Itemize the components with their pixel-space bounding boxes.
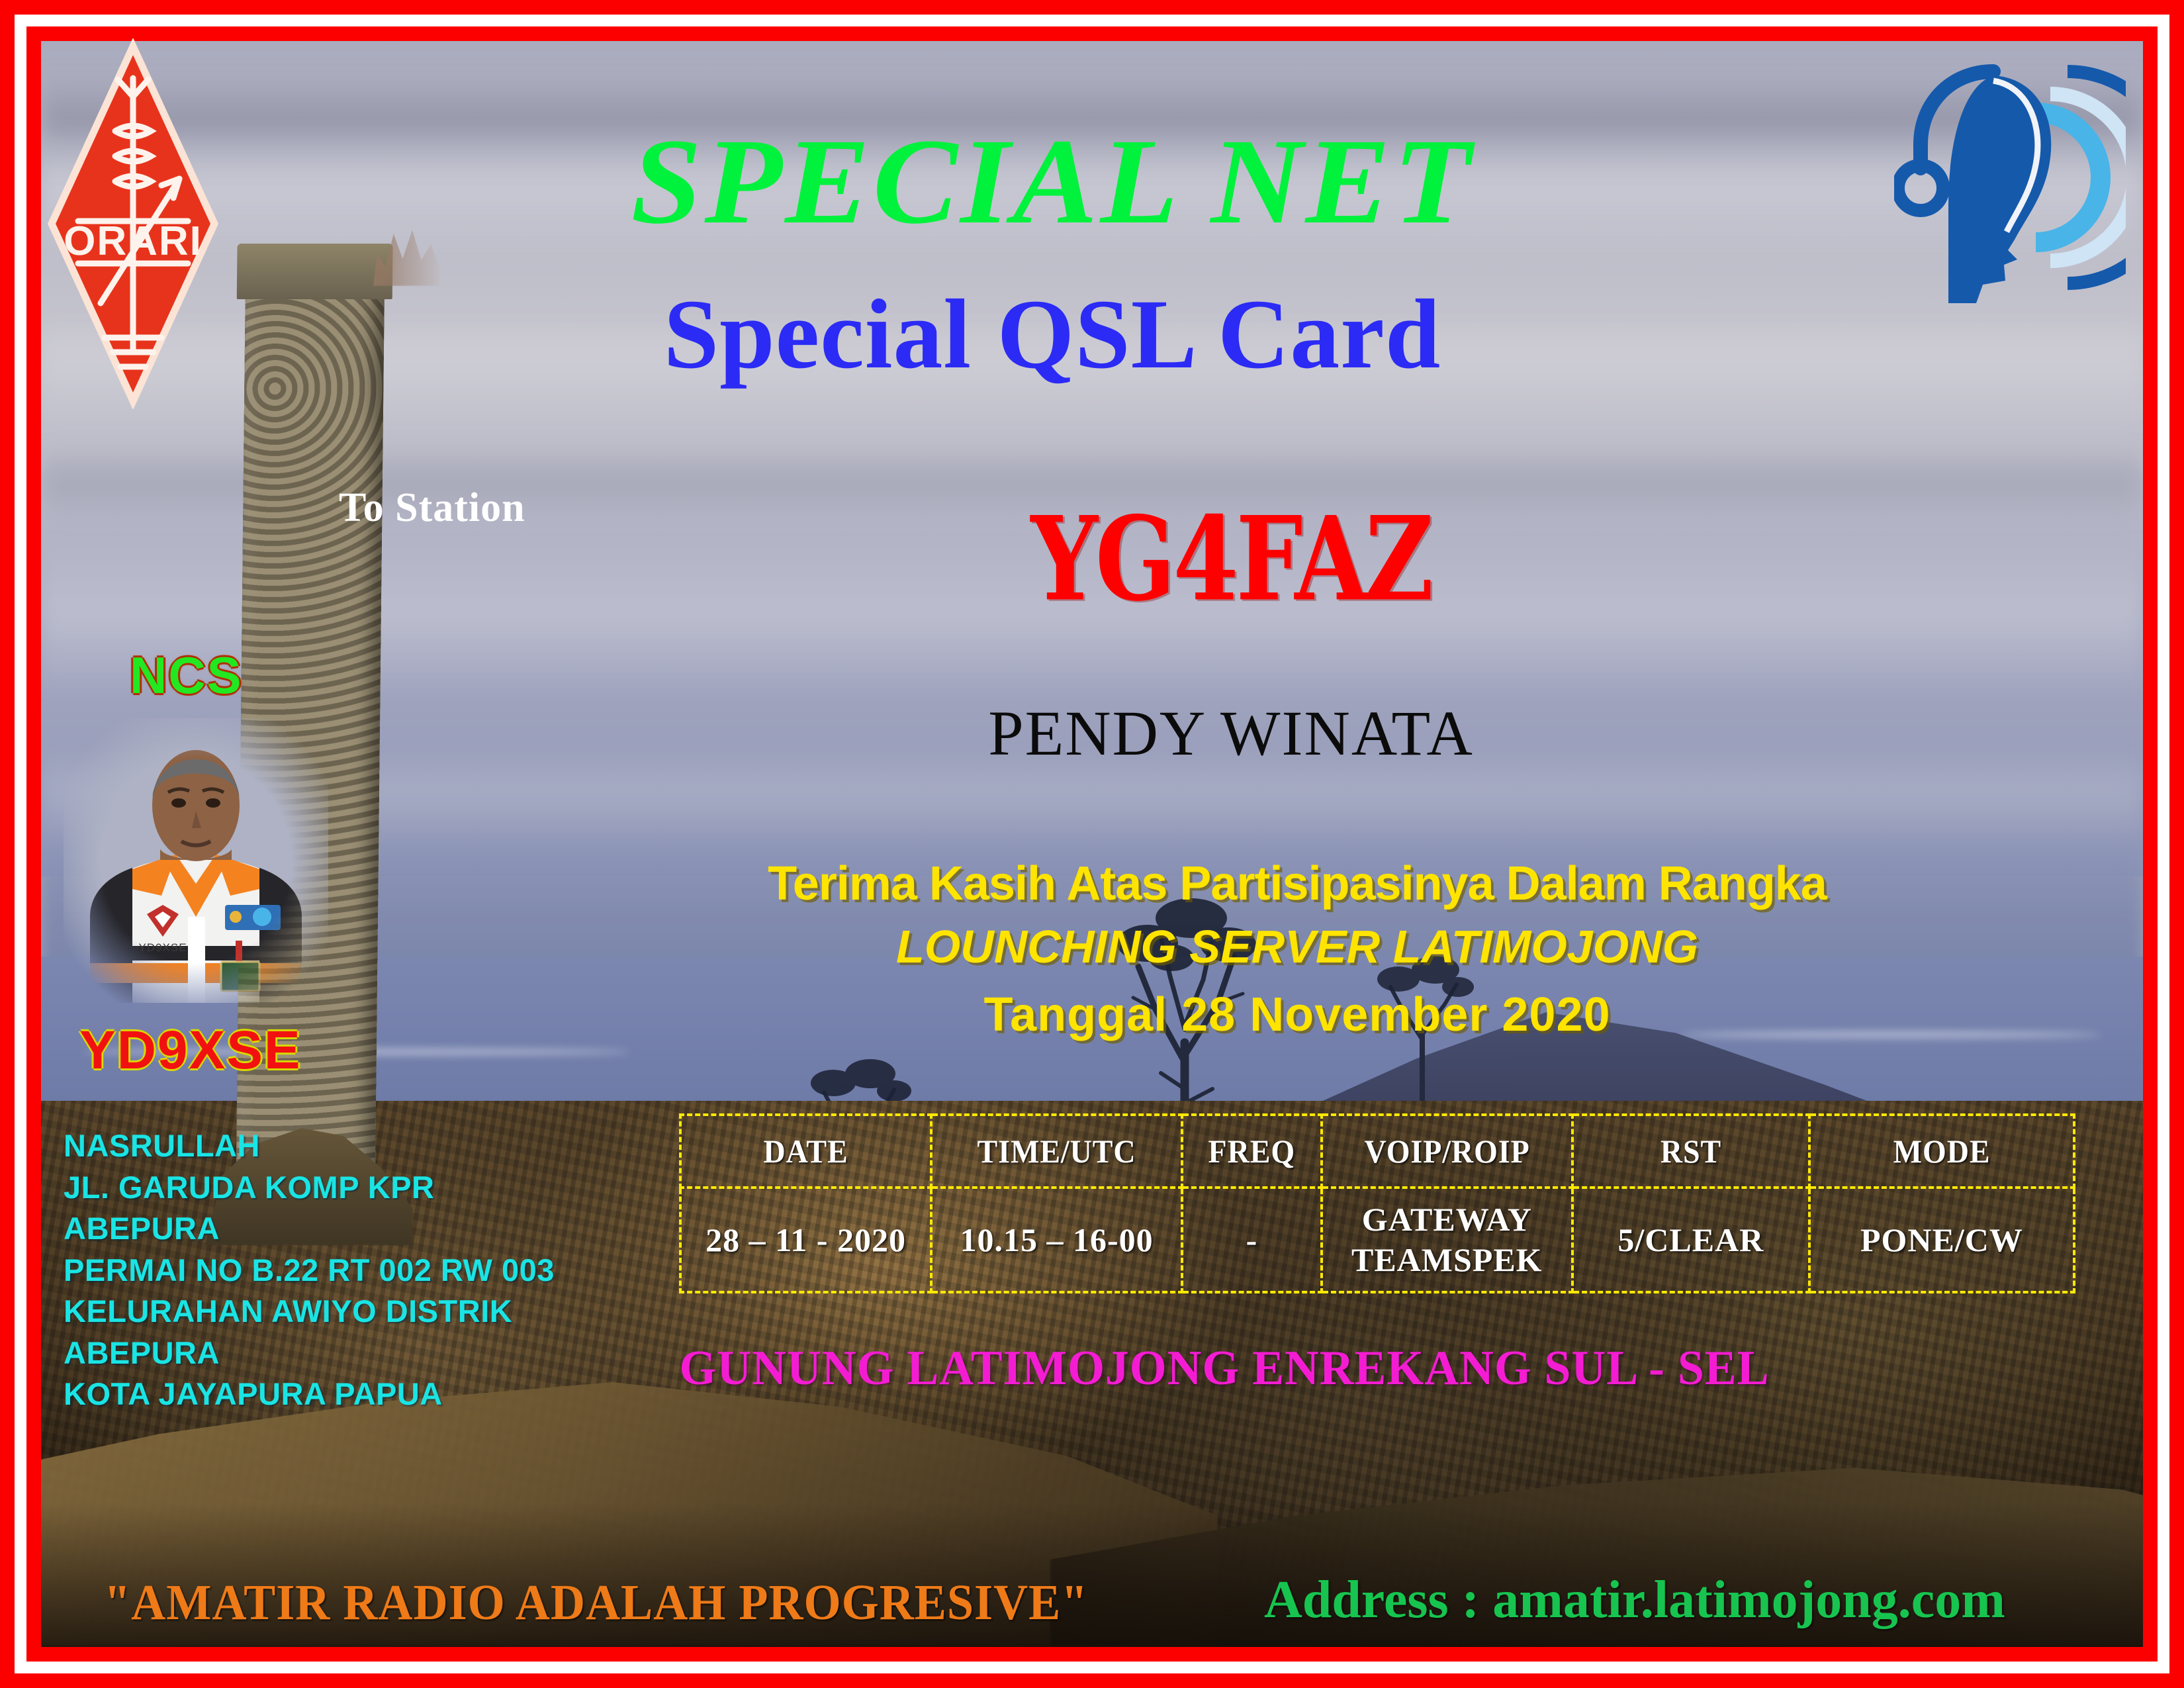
cell-rst: 5/CLEAR xyxy=(1572,1188,1809,1292)
table-header-date: DATE xyxy=(690,1115,921,1188)
address-line: NASRULLAH xyxy=(64,1125,619,1167)
table-header-time: TIME/UTC xyxy=(941,1115,1172,1188)
ncs-label: NCS xyxy=(130,645,243,706)
operator-name: PENDY WINATA xyxy=(834,702,1628,765)
address-line: JL. GARUDA KOMP KPR xyxy=(64,1167,619,1209)
location-caption: GUNUNG LATIMOJONG ENREKANG SUL - SEL xyxy=(615,1340,1835,1397)
cell-freq: - xyxy=(1182,1188,1322,1292)
cell-mode: PONE/CW xyxy=(1809,1188,2074,1292)
thanks-line-2: LOUNCHING SERVER LATIMOJONG xyxy=(708,914,1886,979)
card-outer-frame: ORARI SPECIAL NET Special QSL Card To St… xyxy=(0,0,2184,1688)
footer-web-address: Address : amatir.latimojong.com xyxy=(1264,1570,2005,1630)
page-subtitle: Special QSL Card xyxy=(424,285,1681,384)
table-header-mode: MODE xyxy=(1820,1115,2064,1188)
ncs-operator-photo: YD9XSE xyxy=(64,718,328,1003)
to-station-label: To Station xyxy=(339,485,525,532)
svg-text:YD9XSE: YD9XSE xyxy=(138,941,187,954)
address-line: ABEPURA xyxy=(64,1333,619,1374)
cell-voip-line1: GATEWAY xyxy=(1362,1201,1532,1238)
address-line: KOTA JAYAPURA PAPUA xyxy=(64,1374,619,1415)
cell-voip: GATEWAY TEAMSPEK xyxy=(1322,1188,1572,1292)
headset-operator-logo xyxy=(1894,52,2126,303)
orari-logo-text: ORARI xyxy=(64,218,203,264)
table-row: 28 – 11 - 2020 10.15 – 16-00 - GATEWAY T… xyxy=(680,1188,2074,1292)
footer-motto: "AMATIR RADIO ADALAH PROGRESIVE" xyxy=(104,1574,1088,1632)
thanks-line-3: Tanggal 28 November 2020 xyxy=(708,979,1886,1051)
station-address: NASRULLAH JL. GARUDA KOMP KPR ABEPURA PE… xyxy=(64,1125,619,1415)
card-content: ORARI SPECIAL NET Special QSL Card To St… xyxy=(0,0,2184,1688)
cell-time: 10.15 – 16-00 xyxy=(931,1188,1182,1292)
cell-voip-line2: TEAMSPEK xyxy=(1351,1241,1543,1278)
station-callsign: YG4FAZ xyxy=(850,501,1612,617)
address-line: KELURAHAN AWIYO DISTRIK xyxy=(64,1291,619,1333)
orari-logo: ORARI xyxy=(44,38,222,409)
cell-date: 28 – 11 - 2020 xyxy=(680,1188,931,1292)
table-header-rst: RST xyxy=(1582,1115,1799,1188)
thanks-block: Terima Kasih Atas Partisipasinya Dalam R… xyxy=(708,854,1886,1051)
qso-log-table: DATE TIME/UTC FREQ VOIP/ROIP RST MODE 28… xyxy=(679,1113,2075,1293)
address-line: PERMAI NO B.22 RT 002 RW 003 xyxy=(64,1250,619,1291)
table-header-freq: FREQ xyxy=(1188,1115,1316,1188)
table-header-row: DATE TIME/UTC FREQ VOIP/ROIP RST MODE xyxy=(680,1115,2074,1188)
page-title: SPECIAL NET xyxy=(398,120,1706,243)
address-line: ABEPURA xyxy=(64,1208,619,1250)
ncs-callsign: YD9XSE xyxy=(79,1019,302,1082)
thanks-line-1: Terima Kasih Atas Partisipasinya Dalam R… xyxy=(708,854,1886,914)
table-header-voip: VOIP/ROIP xyxy=(1332,1115,1563,1188)
